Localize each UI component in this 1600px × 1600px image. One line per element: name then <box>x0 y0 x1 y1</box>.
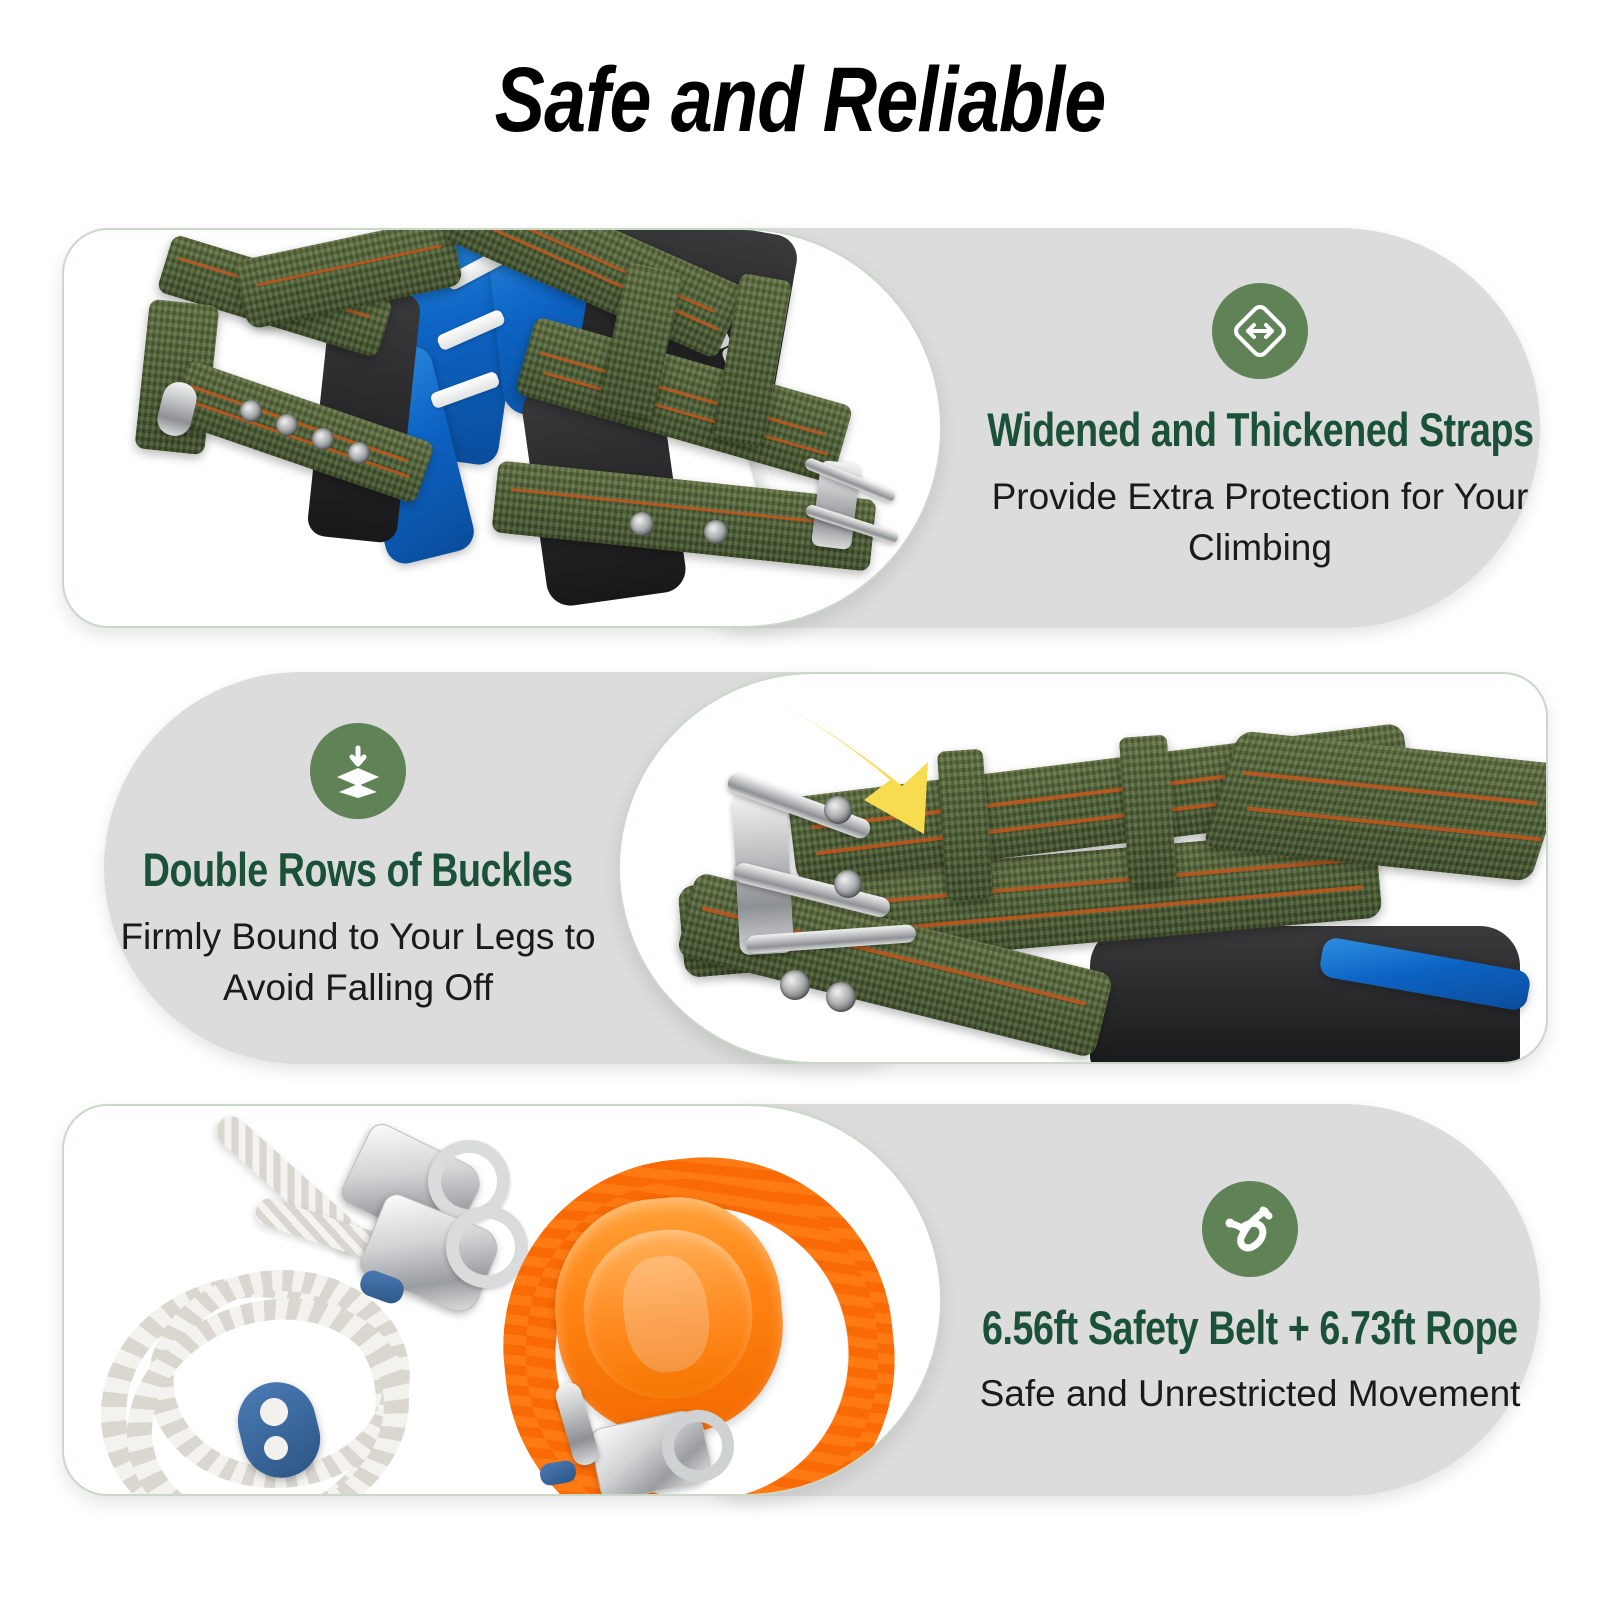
feature-row-widened-thickened-straps: Widened and Thickened Straps Provide Ext… <box>0 228 1600 628</box>
feature-heading: Double Rows of Buckles <box>143 845 573 894</box>
feature-text-widened-thickened-straps: Widened and Thickened Straps Provide Ext… <box>930 228 1590 628</box>
product-photo-card-belt-rope[interactable] <box>62 1104 942 1496</box>
resize-horizontal-diamond-icon <box>1212 283 1308 379</box>
feature-subtext: Safe and Unrestricted Movement <box>980 1368 1521 1419</box>
feature-heading: 6.56ft Safety Belt + 6.73ft Rope <box>982 1303 1518 1352</box>
feature-text-safety-belt-and-rope: 6.56ft Safety Belt + 6.73ft Rope Safe an… <box>910 1104 1590 1496</box>
rope-and-belt-illustration <box>64 1106 940 1494</box>
yellow-pointer-arrow <box>760 690 960 845</box>
stacked-layers-icon <box>310 723 406 819</box>
feature-text-double-rows-of-buckles: Double Rows of Buckles Firmly Bound to Y… <box>58 672 658 1064</box>
harness-straps-illustration <box>64 230 940 626</box>
buckle-closeup-illustration <box>620 674 1546 1062</box>
feature-subtext: Firmly Bound to Your Legs to Avoid Falli… <box>98 911 618 1013</box>
product-photo-card-buckles[interactable] <box>618 672 1548 1064</box>
rope-knot-icon <box>1202 1181 1298 1277</box>
feature-heading: Widened and Thickened Straps <box>987 405 1533 454</box>
feature-subtext: Provide Extra Protection for Your Climbi… <box>980 471 1540 573</box>
product-photo-card-straps[interactable] <box>62 228 942 628</box>
page-title: Safe and Reliable <box>144 48 1456 153</box>
feature-row-safety-belt-and-rope: 6.56ft Safety Belt + 6.73ft Rope Safe an… <box>0 1104 1600 1496</box>
feature-row-double-rows-of-buckles: Double Rows of Buckles Firmly Bound to Y… <box>0 672 1600 1064</box>
